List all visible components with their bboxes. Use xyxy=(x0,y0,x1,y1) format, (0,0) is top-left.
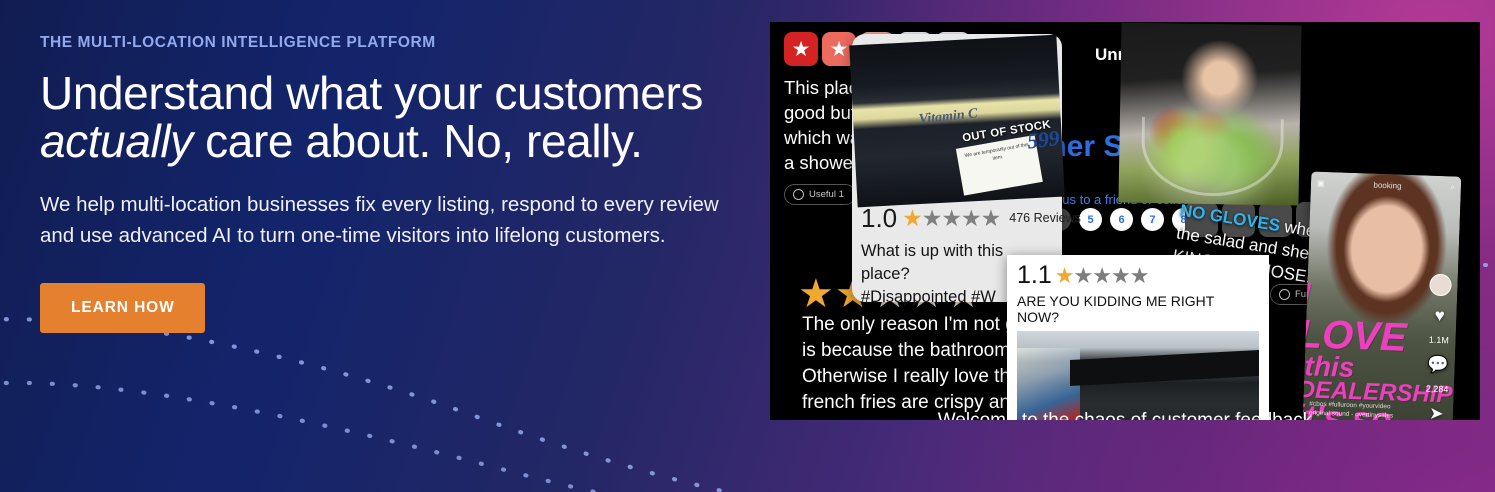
tiktok-top-bar: ▣ booking ⌕ xyxy=(1317,178,1455,193)
price-tag: 599 xyxy=(1026,126,1061,155)
review-count: 476 Reviews xyxy=(1009,211,1081,225)
heart-icon[interactable]: ♥ xyxy=(1434,307,1445,324)
avatar[interactable] xyxy=(1429,274,1452,297)
headline-part-2: care about. No, really. xyxy=(193,115,643,167)
hero-copy: THE MULTI-LOCATION INTELLIGENCE PLATFORM… xyxy=(40,34,740,333)
nps-option-7[interactable]: 7 xyxy=(1141,208,1164,231)
rating-card-1-1: 1.1 ★★★★★ ARE YOU KIDDING ME RIGHT NOW? xyxy=(1007,255,1269,420)
hero-banner: THE MULTI-LOCATION INTELLIGENCE PLATFORM… xyxy=(0,0,1495,492)
rating-headline-text: What is up with this place? xyxy=(861,242,1003,283)
like-count: 1.1M xyxy=(1429,335,1449,346)
rating-row: 1.1 ★★★★★ xyxy=(1017,263,1259,288)
star-icon: ★ xyxy=(784,32,818,66)
star-icon: ★ xyxy=(798,274,834,314)
rating-score: 1.0 xyxy=(861,205,897,231)
customer-feedback-collage: ★ ★ ★ ★ ★ This place w good but th which… xyxy=(770,22,1480,420)
star-rating: ★★★★★ xyxy=(1055,265,1149,287)
headline-part-1: Understand what your customers xyxy=(40,67,703,119)
star-rating: ★★★★★ xyxy=(902,207,1000,230)
nps-option-6[interactable]: 6 xyxy=(1110,208,1133,231)
eyebrow-text: THE MULTI-LOCATION INTELLIGENCE PLATFORM xyxy=(40,34,740,51)
useful-button[interactable]: Useful 1 xyxy=(784,184,856,205)
rating-hashtags: #Disappointed #W xyxy=(861,288,996,306)
learn-how-button[interactable]: LEARN HOW xyxy=(40,283,205,333)
hero-subcopy: We help multi-location businesses fix ev… xyxy=(40,189,740,251)
useful-label: Useful 1 xyxy=(809,189,844,200)
comment-count: 2,284 xyxy=(1426,384,1449,395)
empty-shelf-photo xyxy=(1017,331,1259,420)
rating-row: 1.0 ★★★★★ 476 Reviews xyxy=(861,205,1053,231)
comment-icon[interactable]: 💬 xyxy=(1427,356,1449,374)
nps-option-5[interactable]: 5 xyxy=(1079,208,1102,231)
tiktok-action-rail[interactable]: ♥ 1.1M 💬 2,284 ➤ 15.4K xyxy=(1423,274,1452,420)
vitamin-c-label: Vitamin C xyxy=(918,104,978,127)
page-title: Understand what your customers actually … xyxy=(40,69,740,165)
smile-icon xyxy=(1279,289,1290,300)
tiktok-video-card[interactable]: ▣ booking ⌕ I LOVE this DEALERSHIP it's … xyxy=(1303,171,1462,420)
salad-photo xyxy=(1118,22,1301,205)
collage-caption: Welcome to the chaos of customer feedbac… xyxy=(770,410,1480,420)
rating-caption: ARE YOU KIDDING ME RIGHT NOW? xyxy=(1017,293,1259,325)
camera-icon: ▣ xyxy=(1317,178,1325,187)
search-icon: ⌕ xyxy=(1450,182,1455,192)
headline-italic: actually xyxy=(40,115,193,167)
rating-score: 1.1 xyxy=(1017,263,1052,288)
thumbs-up-icon xyxy=(793,189,804,200)
out-of-stock-photo: Vitamin C OUT OF STOCK We are temporaril… xyxy=(849,35,1065,208)
tiktok-top-label: booking xyxy=(1373,180,1401,190)
